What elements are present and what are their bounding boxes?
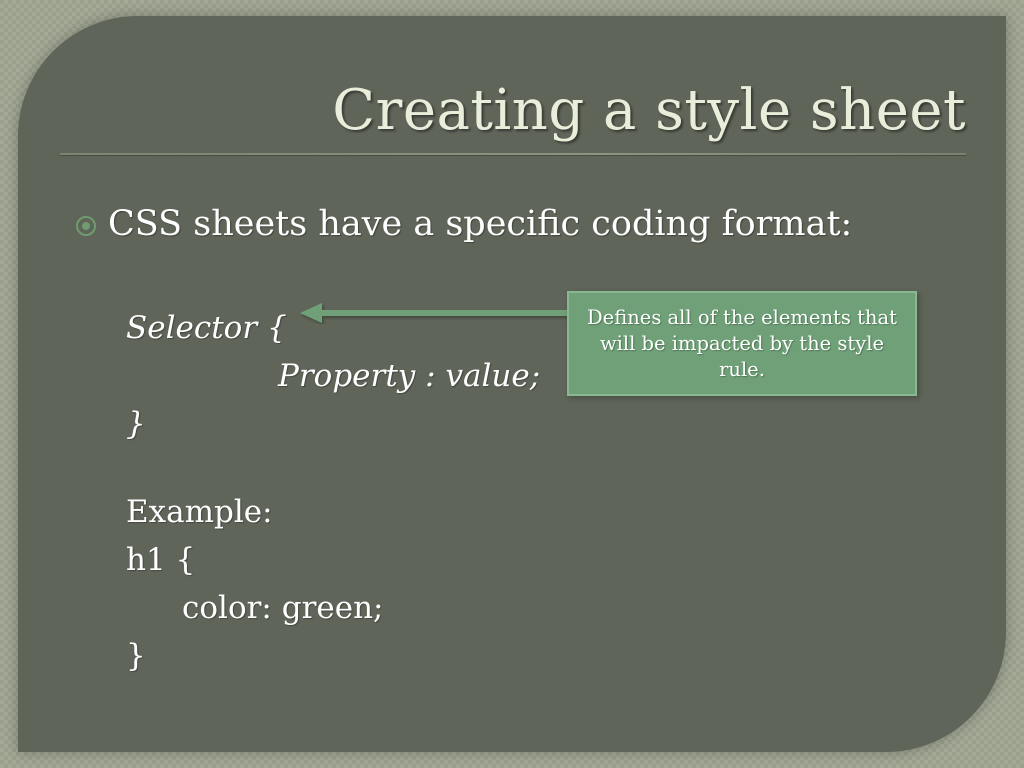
code-block-example: Example: h1 { color: green; } [126,488,384,680]
callout-text: Defines all of the elements that will be… [581,305,903,383]
ring-dot-bullet-icon [76,216,96,236]
code-line-color-green: color: green; [126,584,384,632]
code-line-example-heading: Example: [126,488,384,536]
code-line-example-close-brace: } [126,632,384,680]
title-block: Creating a style sheet [60,82,966,155]
code-line-h1-open: h1 { [126,536,384,584]
page-title: Creating a style sheet [60,82,966,141]
bullet-item-label: CSS sheets have a specific coding format… [108,204,852,244]
code-line-close-brace: } [126,400,540,448]
slide-canvas: Creating a style sheet CSS sheets have a… [0,0,1024,768]
bullet-list-item: CSS sheets have a specific coding format… [76,204,852,244]
callout-box: Defines all of the elements that will be… [567,291,917,396]
code-block-syntax: Selector { Property : value; } [126,304,540,448]
code-line-property: Property : value; [126,352,540,400]
title-divider [60,153,966,155]
slide-panel: Creating a style sheet CSS sheets have a… [18,16,1006,752]
code-line-selector: Selector { [126,304,540,352]
